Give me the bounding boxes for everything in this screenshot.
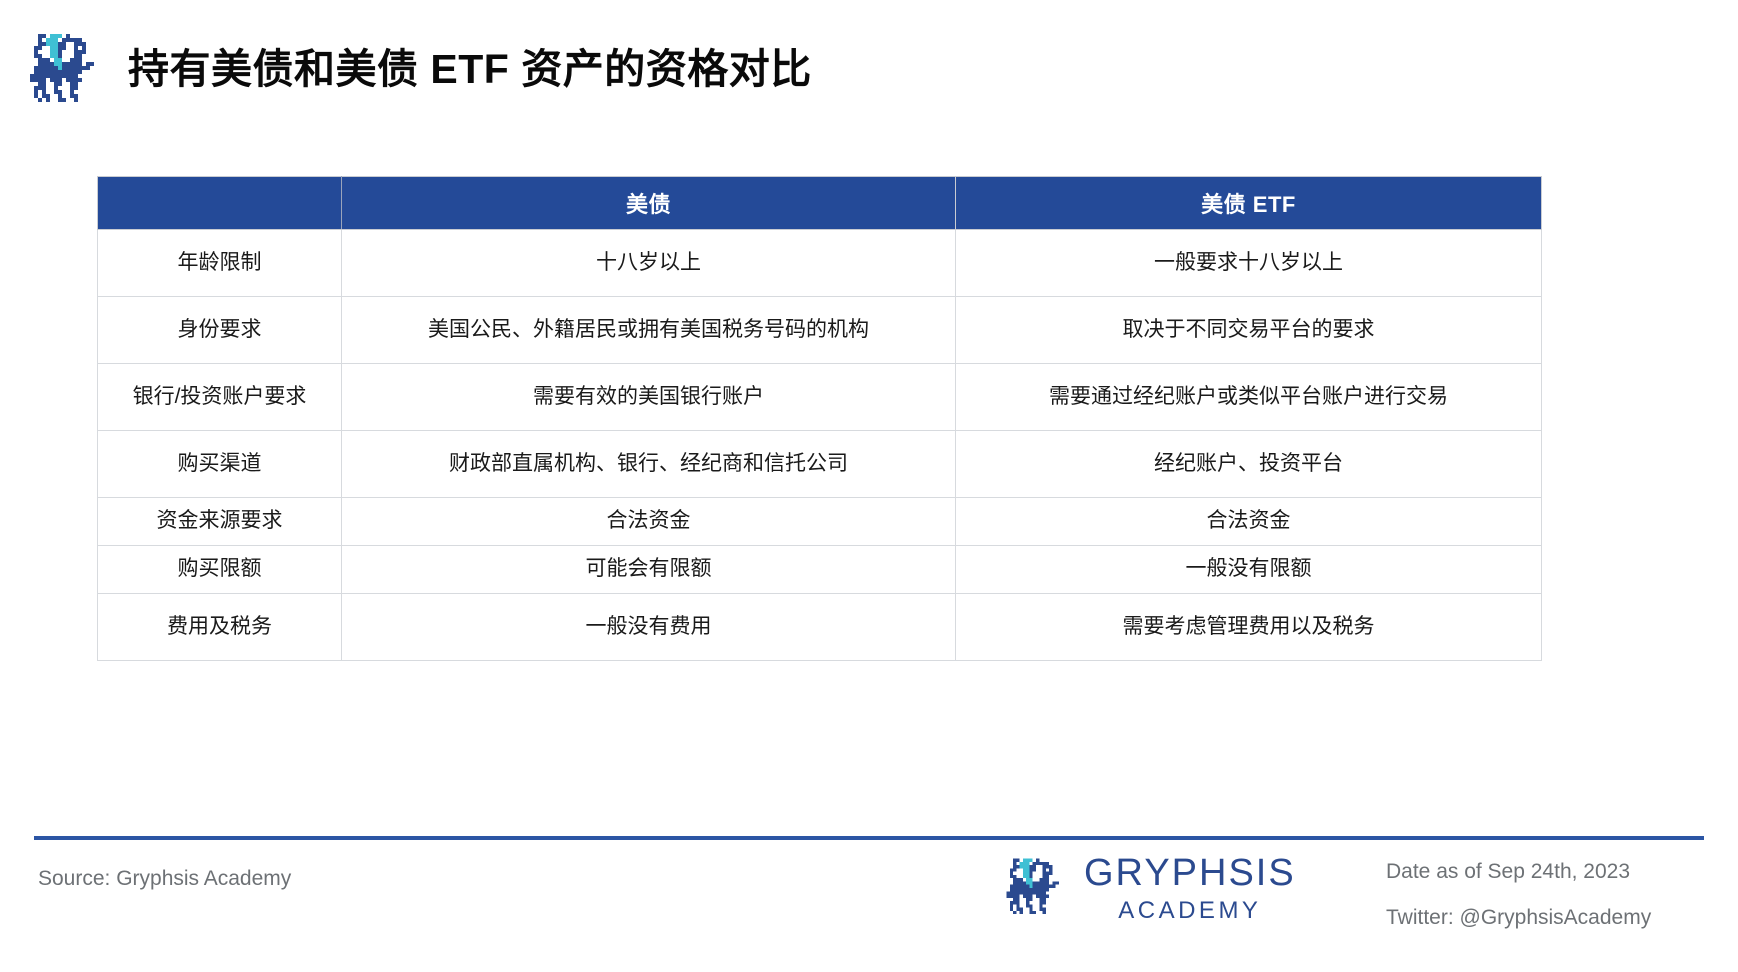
- page-footer: Source: Gryphsis Academy: [0, 840, 1738, 972]
- row-label: 身份要求: [98, 297, 342, 364]
- gryphsis-griffin-logo-icon: [1000, 852, 1072, 924]
- row-label: 年龄限制: [98, 230, 342, 297]
- row-label: 银行/投资账户要求: [98, 364, 342, 431]
- cell-treasury: 美国公民、外籍居民或拥有美国税务号码的机构: [342, 297, 956, 364]
- cell-treasury: 十八岁以上: [342, 230, 956, 297]
- footer-source-label: Source: Gryphsis Academy: [38, 867, 291, 891]
- table-row: 年龄限制 十八岁以上 一般要求十八岁以上: [98, 230, 1542, 297]
- cell-treasury: 需要有效的美国银行账户: [342, 364, 956, 431]
- table-row: 费用及税务 一般没有费用 需要考虑管理费用以及税务: [98, 594, 1542, 661]
- comparison-table-container: 美债 美债 ETF 年龄限制 十八岁以上 一般要求十八岁以上 身份要求 美国公民…: [97, 176, 1541, 661]
- brand-wordmark: GRYPHSIS ACADEMY: [1084, 854, 1296, 923]
- column-header-etf: 美债 ETF: [956, 177, 1542, 230]
- footer-meta: Date as of Sep 24th, 2023 Twitter: @Gryp…: [1386, 860, 1651, 930]
- brand-name: GRYPHSIS: [1084, 854, 1296, 892]
- footer-date: Date as of Sep 24th, 2023: [1386, 860, 1651, 884]
- table-row: 银行/投资账户要求 需要有效的美国银行账户 需要通过经纪账户或类似平台账户进行交…: [98, 364, 1542, 431]
- cell-etf: 需要通过经纪账户或类似平台账户进行交易: [956, 364, 1542, 431]
- cell-etf: 合法资金: [956, 498, 1542, 546]
- row-label: 购买渠道: [98, 431, 342, 498]
- page-header: 持有美债和美债 ETF 资产的资格对比: [0, 0, 1738, 140]
- cell-etf: 一般要求十八岁以上: [956, 230, 1542, 297]
- table-header-row: 美债 美债 ETF: [98, 177, 1542, 230]
- row-label: 资金来源要求: [98, 498, 342, 546]
- cell-treasury: 可能会有限额: [342, 546, 956, 594]
- page-title: 持有美债和美债 ETF 资产的资格对比: [128, 47, 812, 92]
- table-row: 购买限额 可能会有限额 一般没有限额: [98, 546, 1542, 594]
- cell-etf: 经纪账户、投资平台: [956, 431, 1542, 498]
- row-label: 费用及税务: [98, 594, 342, 661]
- gryphsis-griffin-logo-icon: [22, 26, 110, 114]
- cell-treasury: 一般没有费用: [342, 594, 956, 661]
- column-header-treasury: 美债: [342, 177, 956, 230]
- footer-twitter: Twitter: @GryphsisAcademy: [1386, 906, 1651, 930]
- cell-etf: 需要考虑管理费用以及税务: [956, 594, 1542, 661]
- table-row: 资金来源要求 合法资金 合法资金: [98, 498, 1542, 546]
- brand-subtitle: ACADEMY: [1084, 899, 1296, 923]
- footer-brand: GRYPHSIS ACADEMY: [1000, 852, 1296, 924]
- comparison-table: 美债 美债 ETF 年龄限制 十八岁以上 一般要求十八岁以上 身份要求 美国公民…: [97, 176, 1542, 661]
- table-row: 购买渠道 财政部直属机构、银行、经纪商和信托公司 经纪账户、投资平台: [98, 431, 1542, 498]
- cell-treasury: 合法资金: [342, 498, 956, 546]
- column-header-blank: [98, 177, 342, 230]
- table-header: 美债 美债 ETF: [98, 177, 1542, 230]
- cell-treasury: 财政部直属机构、银行、经纪商和信托公司: [342, 431, 956, 498]
- table-row: 身份要求 美国公民、外籍居民或拥有美国税务号码的机构 取决于不同交易平台的要求: [98, 297, 1542, 364]
- cell-etf: 取决于不同交易平台的要求: [956, 297, 1542, 364]
- table-body: 年龄限制 十八岁以上 一般要求十八岁以上 身份要求 美国公民、外籍居民或拥有美国…: [98, 230, 1542, 661]
- cell-etf: 一般没有限额: [956, 546, 1542, 594]
- row-label: 购买限额: [98, 546, 342, 594]
